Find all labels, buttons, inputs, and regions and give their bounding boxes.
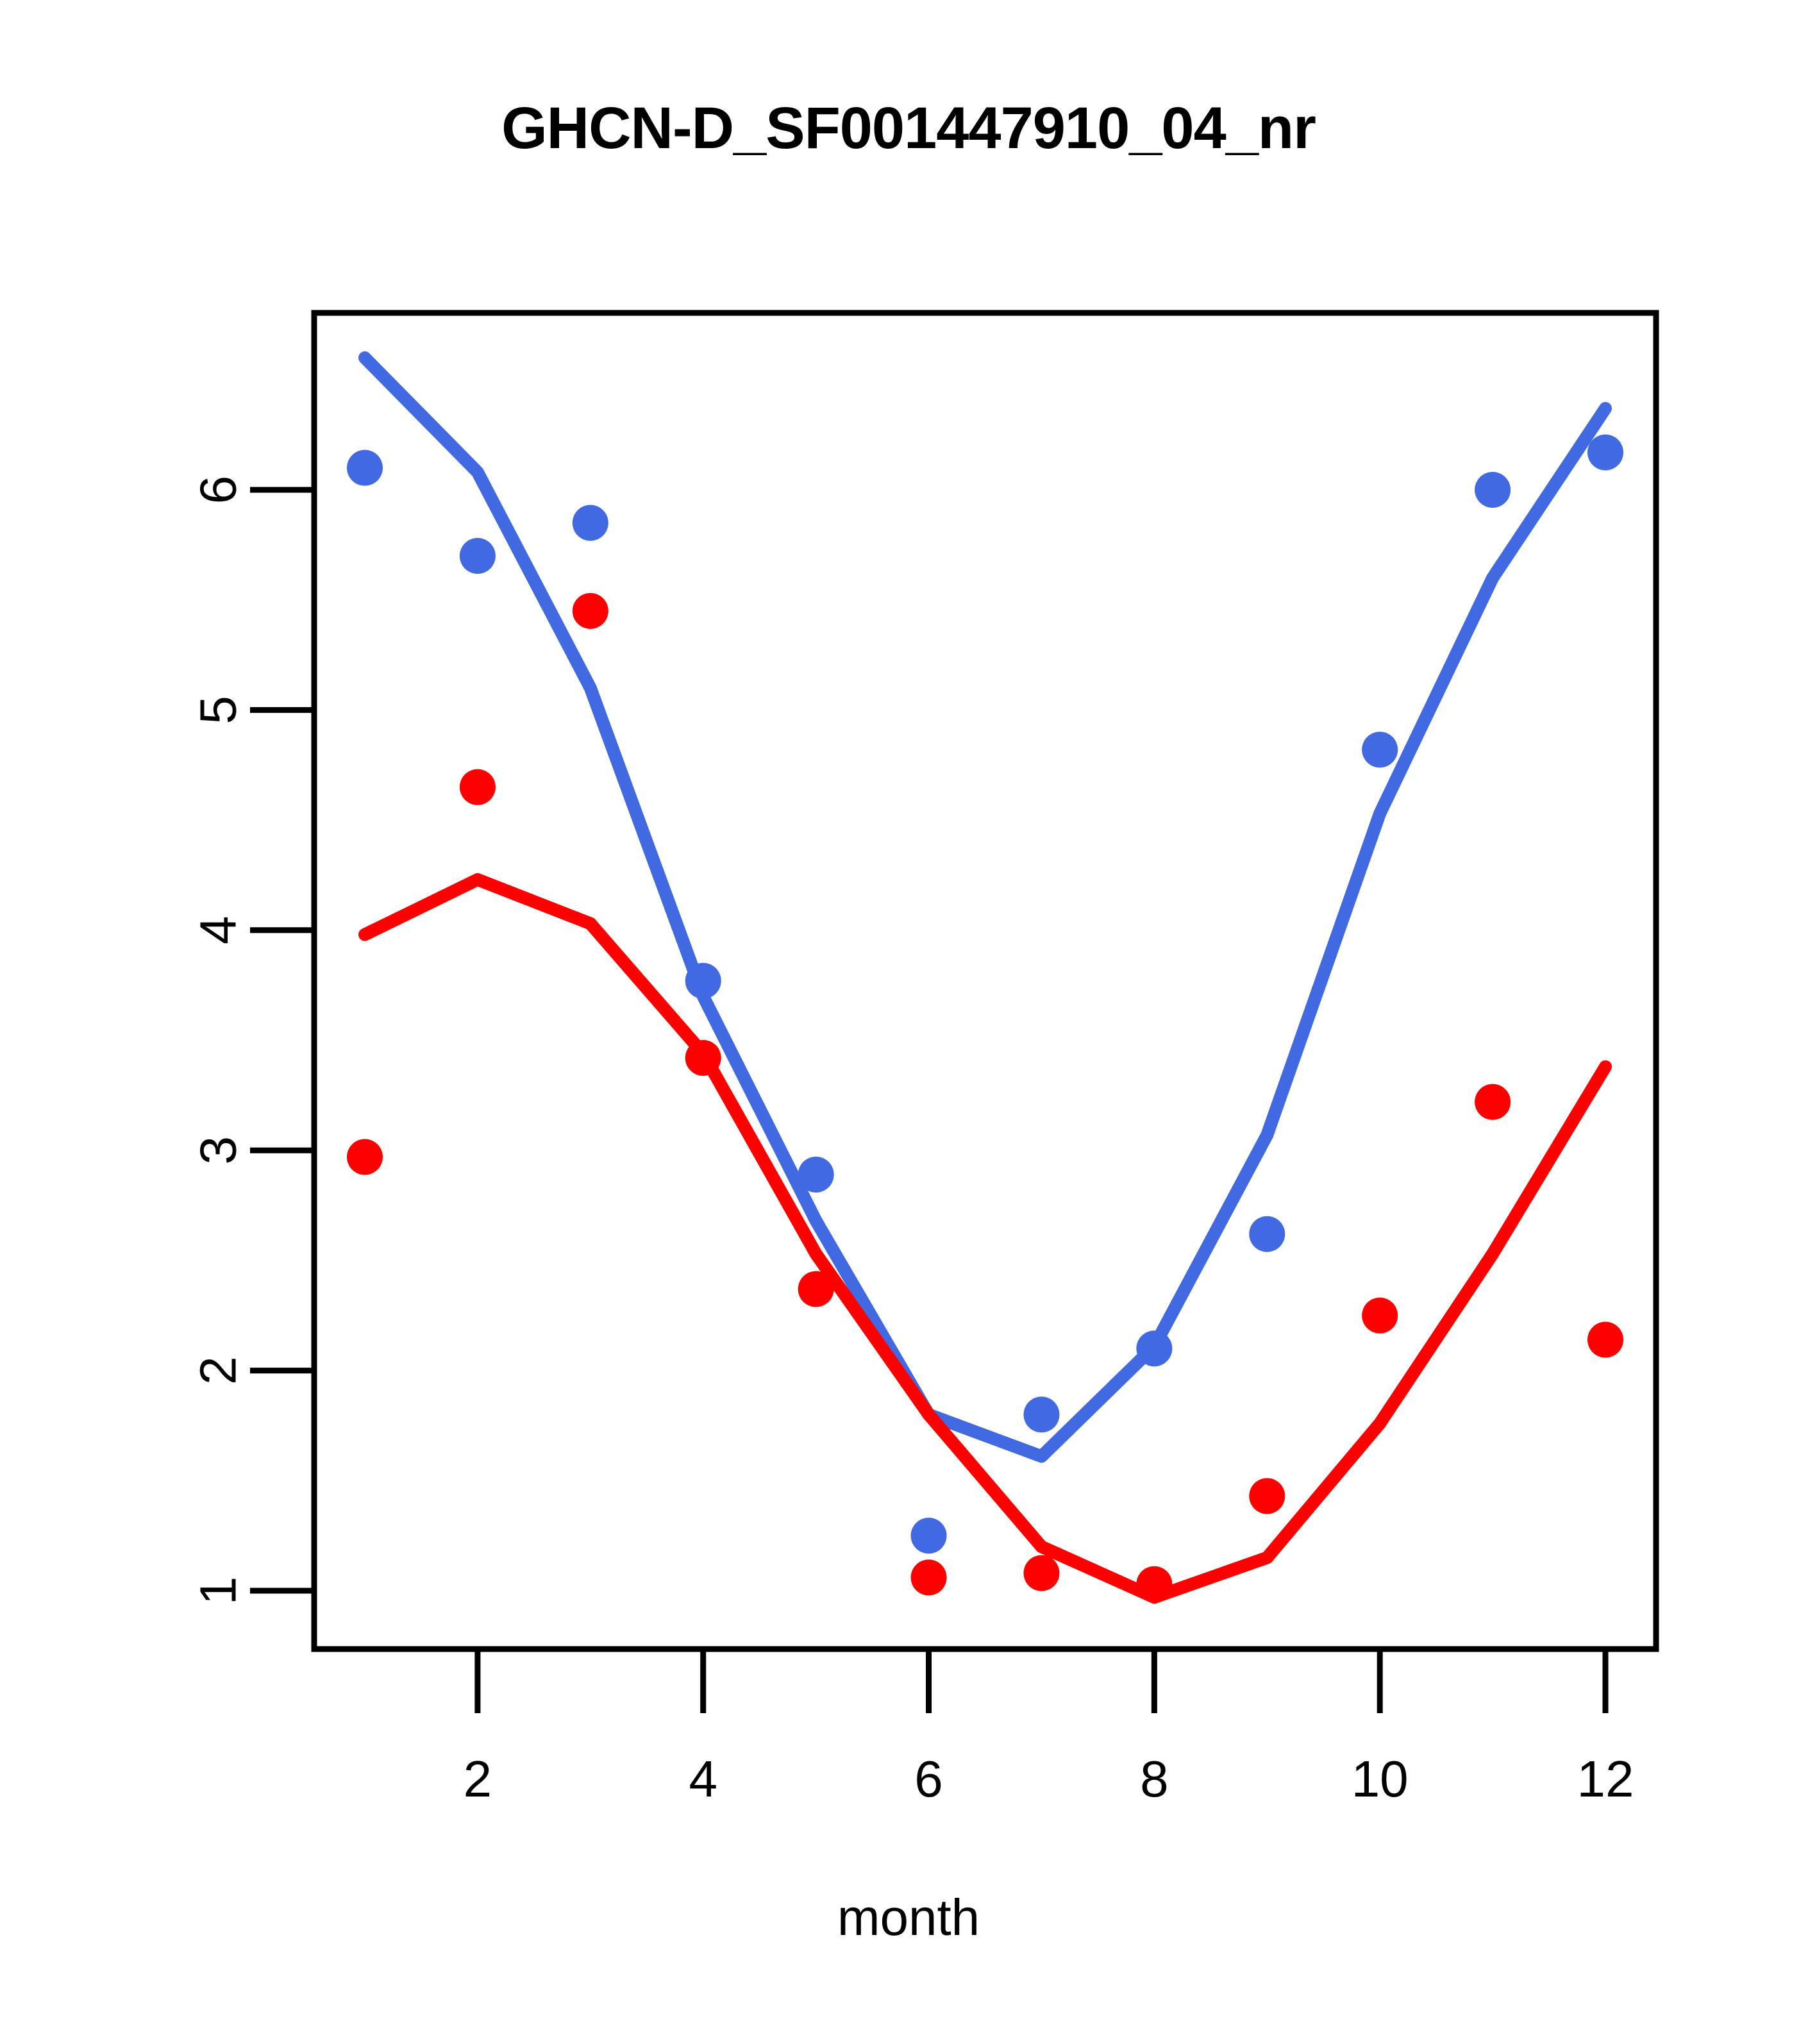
- data-point: [1587, 1322, 1623, 1358]
- data-point: [1362, 732, 1398, 767]
- data-point: [347, 450, 383, 486]
- x-tick-label: 10: [1352, 1750, 1409, 1807]
- y-tick-label: 5: [190, 696, 247, 725]
- data-point: [460, 769, 496, 805]
- y-tick-label: 1: [190, 1577, 247, 1605]
- y-tick-label: 6: [190, 476, 247, 505]
- data-point: [911, 1559, 947, 1595]
- data-point: [460, 538, 496, 574]
- tick-labels-group: 12345624681012: [190, 476, 1634, 1807]
- data-point: [1587, 435, 1623, 471]
- x-axis-label: month: [0, 1888, 1817, 1947]
- data-point: [1249, 1216, 1285, 1252]
- data-point: [1023, 1396, 1059, 1432]
- x-tick-label: 8: [1140, 1750, 1169, 1807]
- data-point: [1023, 1555, 1059, 1591]
- y-tick-label: 4: [190, 916, 247, 945]
- series-group: [347, 358, 1623, 1602]
- x-tick-label: 12: [1577, 1750, 1634, 1807]
- line-series-red-line: [365, 880, 1605, 1597]
- data-point: [1475, 1084, 1511, 1120]
- data-point: [347, 1139, 383, 1175]
- data-point: [573, 593, 608, 629]
- axes-group: [250, 313, 1656, 1713]
- data-point: [911, 1518, 947, 1554]
- data-point: [1249, 1478, 1285, 1514]
- x-tick-label: 6: [914, 1750, 943, 1807]
- data-point: [1475, 472, 1511, 508]
- x-tick-label: 4: [689, 1750, 717, 1807]
- plot-area-svg: 12345624681012: [0, 0, 1817, 2044]
- data-point: [1362, 1298, 1398, 1334]
- plot-frame: [314, 313, 1656, 1649]
- data-point: [573, 505, 608, 541]
- chart-container: GHCN-D_SF001447910_04_nr 12345624681012 …: [0, 0, 1817, 2044]
- scatter-series-blue-points: [347, 435, 1623, 1554]
- scatter-series-red-points: [347, 593, 1623, 1602]
- y-tick-label: 2: [190, 1356, 247, 1385]
- y-tick-label: 3: [190, 1136, 247, 1165]
- x-tick-label: 2: [464, 1750, 492, 1807]
